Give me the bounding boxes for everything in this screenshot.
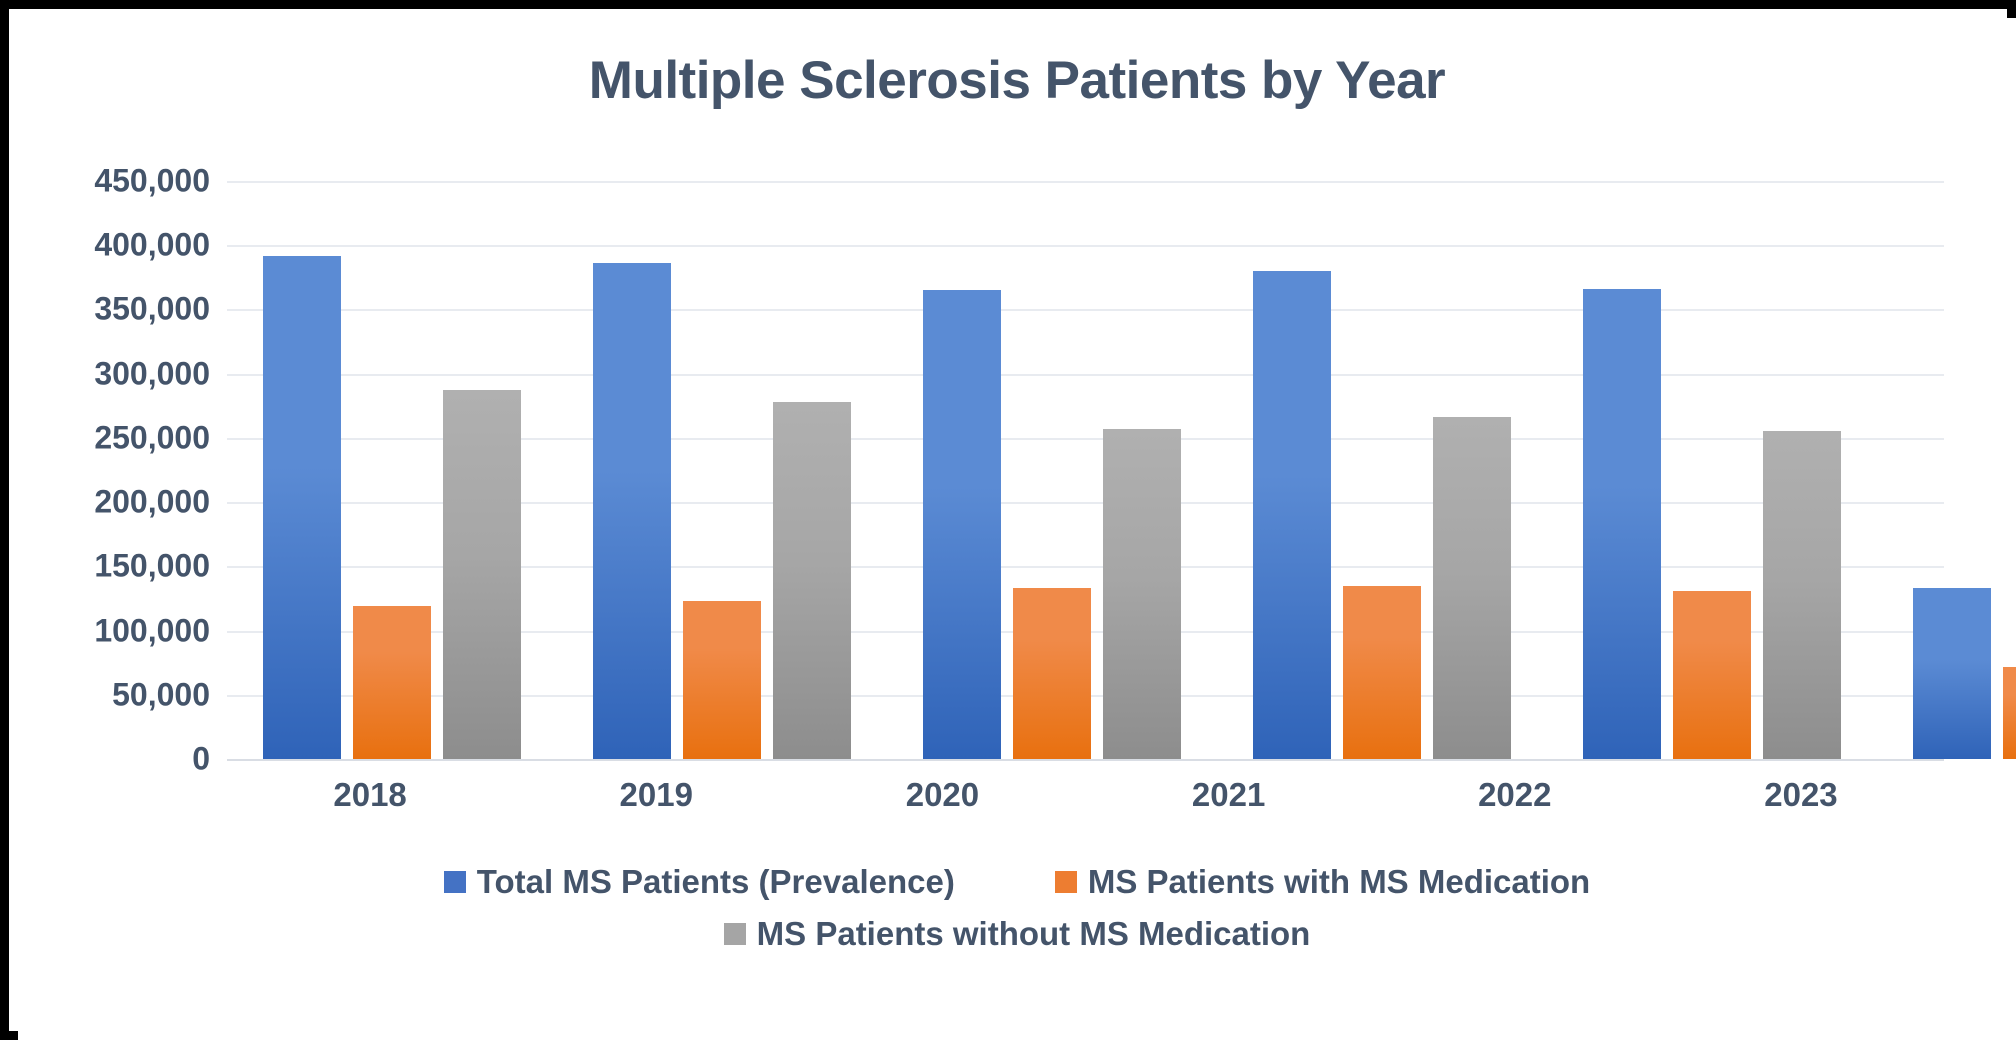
legend-item[interactable]: Total MS Patients (Prevalence)	[444, 863, 955, 901]
legend-label: MS Patients with MS Medication	[1088, 863, 1590, 901]
bar[interactable]	[1103, 429, 1181, 759]
y-axis-tick-label: 250,000	[94, 419, 210, 456]
legend-label: Total MS Patients (Prevalence)	[477, 863, 955, 901]
bar[interactable]	[353, 606, 431, 759]
chart-canvas: Multiple Sclerosis Patients by Year 450,…	[18, 18, 2016, 1040]
bars	[1547, 181, 1877, 759]
legend-row: Total MS Patients (Prevalence)MS Patient…	[18, 863, 2016, 901]
bar[interactable]	[1253, 271, 1331, 759]
legend-item[interactable]: MS Patients with MS Medication	[1055, 863, 1590, 901]
gridline	[227, 759, 1944, 761]
chart-frame: Multiple Sclerosis Patients by Year 450,…	[0, 0, 2016, 1040]
bar-group	[887, 181, 1217, 759]
bar[interactable]	[1013, 588, 1091, 759]
bar[interactable]	[2003, 667, 2016, 759]
legend-swatch-icon	[1055, 871, 1077, 893]
bars	[887, 181, 1217, 759]
x-axis-tick-label: 2023	[1658, 776, 1944, 814]
bars	[1877, 181, 2016, 759]
bar[interactable]	[443, 390, 521, 759]
x-axis-tick-label: 2019	[513, 776, 799, 814]
x-axis-tick-label: 2022	[1372, 776, 1658, 814]
bar[interactable]	[1433, 417, 1511, 759]
bars	[227, 181, 557, 759]
y-axis-tick-label: 350,000	[94, 291, 210, 328]
y-axis-tick-label: 200,000	[94, 484, 210, 521]
bar[interactable]	[1763, 431, 1841, 759]
bar-groups	[227, 181, 1944, 759]
bar[interactable]	[1913, 588, 1991, 759]
y-axis-tick-label: 100,000	[94, 612, 210, 649]
x-axis-tick-label: 2020	[799, 776, 1085, 814]
plot-area	[227, 181, 1944, 759]
bar[interactable]	[923, 290, 1001, 759]
bar-group	[227, 181, 557, 759]
bars	[1217, 181, 1547, 759]
bar[interactable]	[263, 256, 341, 760]
y-axis-labels: 450,000400,000350,000300,000250,000200,0…	[32, 181, 210, 759]
legend-item[interactable]: MS Patients without MS Medication	[724, 915, 1311, 953]
bar[interactable]	[1343, 586, 1421, 759]
legend-label: MS Patients without MS Medication	[757, 915, 1311, 953]
y-axis-tick-label: 400,000	[94, 227, 210, 264]
bars	[557, 181, 887, 759]
bar[interactable]	[1583, 289, 1661, 759]
bar[interactable]	[1673, 591, 1751, 759]
bar-group	[1547, 181, 1877, 759]
bar[interactable]	[773, 402, 851, 759]
x-axis-labels: 201820192020202120222023	[227, 776, 1944, 814]
bar-group	[1217, 181, 1547, 759]
bar-group	[1877, 181, 2016, 759]
legend-swatch-icon	[724, 923, 746, 945]
y-axis-tick-label: 150,000	[94, 548, 210, 585]
chart-title: Multiple Sclerosis Patients by Year	[18, 50, 2016, 111]
x-axis-tick-label: 2021	[1086, 776, 1372, 814]
bar[interactable]	[593, 263, 671, 759]
x-axis-tick-label: 2018	[227, 776, 513, 814]
legend-swatch-icon	[444, 871, 466, 893]
bar[interactable]	[683, 601, 761, 759]
y-axis-tick-label: 450,000	[94, 163, 210, 200]
bar-group	[557, 181, 887, 759]
y-axis-tick-label: 300,000	[94, 355, 210, 392]
y-axis-tick-label: 0	[192, 741, 210, 778]
legend-row: MS Patients without MS Medication	[18, 915, 2016, 953]
y-axis-tick-label: 50,000	[112, 676, 210, 713]
chart-legend: Total MS Patients (Prevalence)MS Patient…	[18, 863, 2016, 967]
